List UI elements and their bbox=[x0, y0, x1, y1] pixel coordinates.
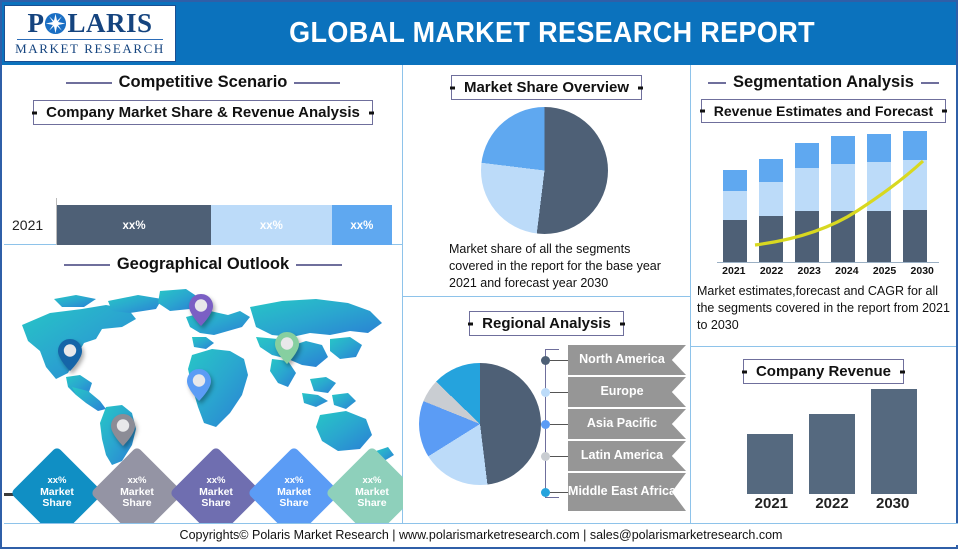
badge-percent: xx% bbox=[206, 476, 225, 487]
competitive-section-title: Competitive Scenario bbox=[119, 73, 288, 92]
logo-subtitle: MARKET RESEARCH bbox=[15, 41, 165, 57]
market-share-badge-4: xx% Market Share bbox=[254, 460, 334, 526]
badge-line2: Share bbox=[201, 498, 230, 510]
axis-label-2030: 2030 bbox=[903, 265, 941, 277]
axis-label-2021: 2021 bbox=[741, 495, 802, 512]
badge-line2: Share bbox=[279, 498, 308, 510]
map-pin-asia-pacific[interactable] bbox=[274, 331, 300, 365]
company-revenue-bar-chart[interactable] bbox=[747, 389, 917, 494]
logo-wordmark: P LARIS bbox=[27, 10, 152, 37]
axis-label-2021: 2021 bbox=[715, 265, 753, 277]
market-share-badge-2: xx% Market Share bbox=[97, 460, 177, 526]
rev-bar-2030[interactable] bbox=[871, 389, 917, 494]
legend-item-latin-america[interactable]: Latin America bbox=[545, 441, 687, 471]
market-share-overview-title: Market Share Overview bbox=[451, 75, 642, 100]
market-share-badge-3: xx% Market Share bbox=[176, 460, 256, 526]
heading-rule-left bbox=[64, 264, 110, 266]
heading-rule-right bbox=[921, 82, 939, 84]
badge-line2: Share bbox=[357, 498, 386, 510]
badge-percent: xx% bbox=[362, 476, 381, 487]
heading-rule-left bbox=[708, 82, 726, 84]
heading-rule-right bbox=[294, 82, 340, 84]
segmentation-analysis-panel: Segmentation Analysis Revenue Estimates … bbox=[691, 65, 956, 347]
world-map bbox=[10, 283, 400, 468]
segmentation-section-heading: Segmentation Analysis bbox=[691, 73, 956, 92]
regional-legend: North America Europe Asia Pacific Latin … bbox=[545, 345, 687, 513]
geographical-section-title: Geographical Outlook bbox=[117, 255, 289, 274]
badge-percent: xx% bbox=[47, 476, 66, 487]
legend-item-north-america[interactable]: North America bbox=[545, 345, 687, 375]
company-revenue-title: Company Revenue bbox=[743, 359, 904, 384]
report-infographic: P LARIS MARKET RESEARCH GLOBAL MARKET RE… bbox=[0, 0, 958, 549]
market-share-badge-row: xx% Market Share xx% Market Share xx% Ma… bbox=[4, 460, 403, 526]
regional-analysis-title: Regional Analysis bbox=[469, 311, 624, 336]
legend-item-middle-east-africa[interactable]: Middle East Africa bbox=[545, 473, 687, 511]
logo-letters-laris: LARIS bbox=[67, 10, 152, 37]
market-share-overview-panel: Market Share Overview Market share of al… bbox=[403, 65, 691, 297]
legend-dot-icon bbox=[541, 420, 550, 429]
badge-percent: xx% bbox=[284, 476, 303, 487]
polaris-logo: P LARIS MARKET RESEARCH bbox=[4, 5, 176, 62]
segmentation-description: Market estimates,forecast and CAGR for a… bbox=[697, 283, 950, 333]
market-share-badge-1: xx% Market Share bbox=[17, 460, 97, 526]
cagr-trend-line bbox=[717, 127, 939, 262]
segmentation-axis-labels: 2021 2022 2023 2024 2025 2030 bbox=[715, 265, 941, 277]
segmentation-boxed-title: Revenue Estimates and Forecast bbox=[701, 99, 946, 123]
legend-label: North America bbox=[568, 345, 686, 375]
regional-analysis-panel: Regional Analysis North America Europe A… bbox=[403, 297, 691, 527]
axis-label-2023: 2023 bbox=[790, 265, 828, 277]
legend-dot-icon bbox=[541, 488, 550, 497]
legend-dot-icon bbox=[541, 388, 550, 397]
company-revenue-panel: Company Revenue 2021 2022 2030 bbox=[691, 347, 956, 527]
bar-segment-company-b[interactable]: xx% bbox=[211, 205, 332, 247]
heading-rule-left bbox=[66, 82, 112, 84]
market-share-badge-5: xx% Market Share bbox=[332, 460, 412, 526]
company-market-share-stacked-bar: xx% xx% xx% bbox=[57, 205, 392, 247]
bar-year-label: 2021 bbox=[12, 217, 43, 233]
competitive-section-heading: Competitive Scenario bbox=[4, 73, 402, 92]
legend-label: Latin America bbox=[568, 441, 686, 471]
geographical-section-heading: Geographical Outlook bbox=[4, 255, 402, 274]
market-share-overview-description: Market share of all the segments covered… bbox=[449, 241, 665, 291]
legend-label: Middle East Africa bbox=[568, 473, 686, 511]
badge-percent: xx% bbox=[127, 476, 146, 487]
market-share-overview-pie[interactable] bbox=[481, 107, 608, 234]
legend-connector bbox=[550, 456, 568, 457]
axis-label-2030: 2030 bbox=[862, 495, 923, 512]
competitive-boxed-title: Company Market Share & Revenue Analysis bbox=[33, 100, 373, 125]
logo-letter-p: P bbox=[27, 10, 44, 37]
map-pin-latin-america[interactable] bbox=[110, 413, 136, 447]
page-header: P LARIS MARKET RESEARCH GLOBAL MARKET RE… bbox=[2, 2, 956, 65]
legend-item-asia-pacific[interactable]: Asia Pacific bbox=[545, 409, 687, 439]
map-pin-middle-east-africa[interactable] bbox=[186, 368, 212, 402]
geographical-outlook-panel: Geographical Outlook bbox=[4, 245, 403, 527]
revenue-estimates-stacked-bar[interactable] bbox=[717, 127, 939, 262]
legend-connector bbox=[550, 360, 568, 361]
compass-star-icon bbox=[44, 12, 67, 35]
badge-line2: Share bbox=[122, 498, 151, 510]
regional-analysis-pie[interactable] bbox=[419, 363, 541, 485]
legend-dot-icon bbox=[541, 452, 550, 461]
competitive-scenario-panel: Competitive Scenario Company Market Shar… bbox=[4, 65, 403, 245]
segmentation-axis-line bbox=[717, 262, 939, 263]
badge-line2: Share bbox=[42, 498, 71, 510]
axis-label-2022: 2022 bbox=[802, 495, 863, 512]
axis-label-2024: 2024 bbox=[828, 265, 866, 277]
heading-rule-right bbox=[296, 264, 342, 266]
rev-bar-2022[interactable] bbox=[809, 414, 855, 494]
legend-dot-icon bbox=[541, 356, 550, 365]
segmentation-section-title: Segmentation Analysis bbox=[733, 73, 914, 92]
rev-bar-2021[interactable] bbox=[747, 434, 793, 494]
legend-item-europe[interactable]: Europe bbox=[545, 377, 687, 407]
footer-copyright: Copyrights© Polaris Market Research | ww… bbox=[4, 523, 958, 545]
map-pin-europe[interactable] bbox=[188, 293, 214, 327]
legend-connector bbox=[550, 392, 568, 393]
legend-connector bbox=[550, 424, 568, 425]
axis-label-2025: 2025 bbox=[866, 265, 904, 277]
page-title: GLOBAL MARKET RESEARCH REPORT bbox=[203, 17, 928, 50]
map-pin-north-america[interactable] bbox=[57, 338, 83, 372]
bar-segment-company-a[interactable]: xx% bbox=[57, 205, 211, 247]
logo-divider bbox=[17, 39, 163, 40]
axis-label-2022: 2022 bbox=[753, 265, 791, 277]
company-revenue-axis-labels: 2021 2022 2030 bbox=[741, 495, 923, 512]
legend-label: Europe bbox=[568, 377, 686, 407]
legend-connector bbox=[550, 492, 568, 493]
bar-segment-company-c[interactable]: xx% bbox=[332, 205, 392, 247]
legend-label: Asia Pacific bbox=[568, 409, 686, 439]
